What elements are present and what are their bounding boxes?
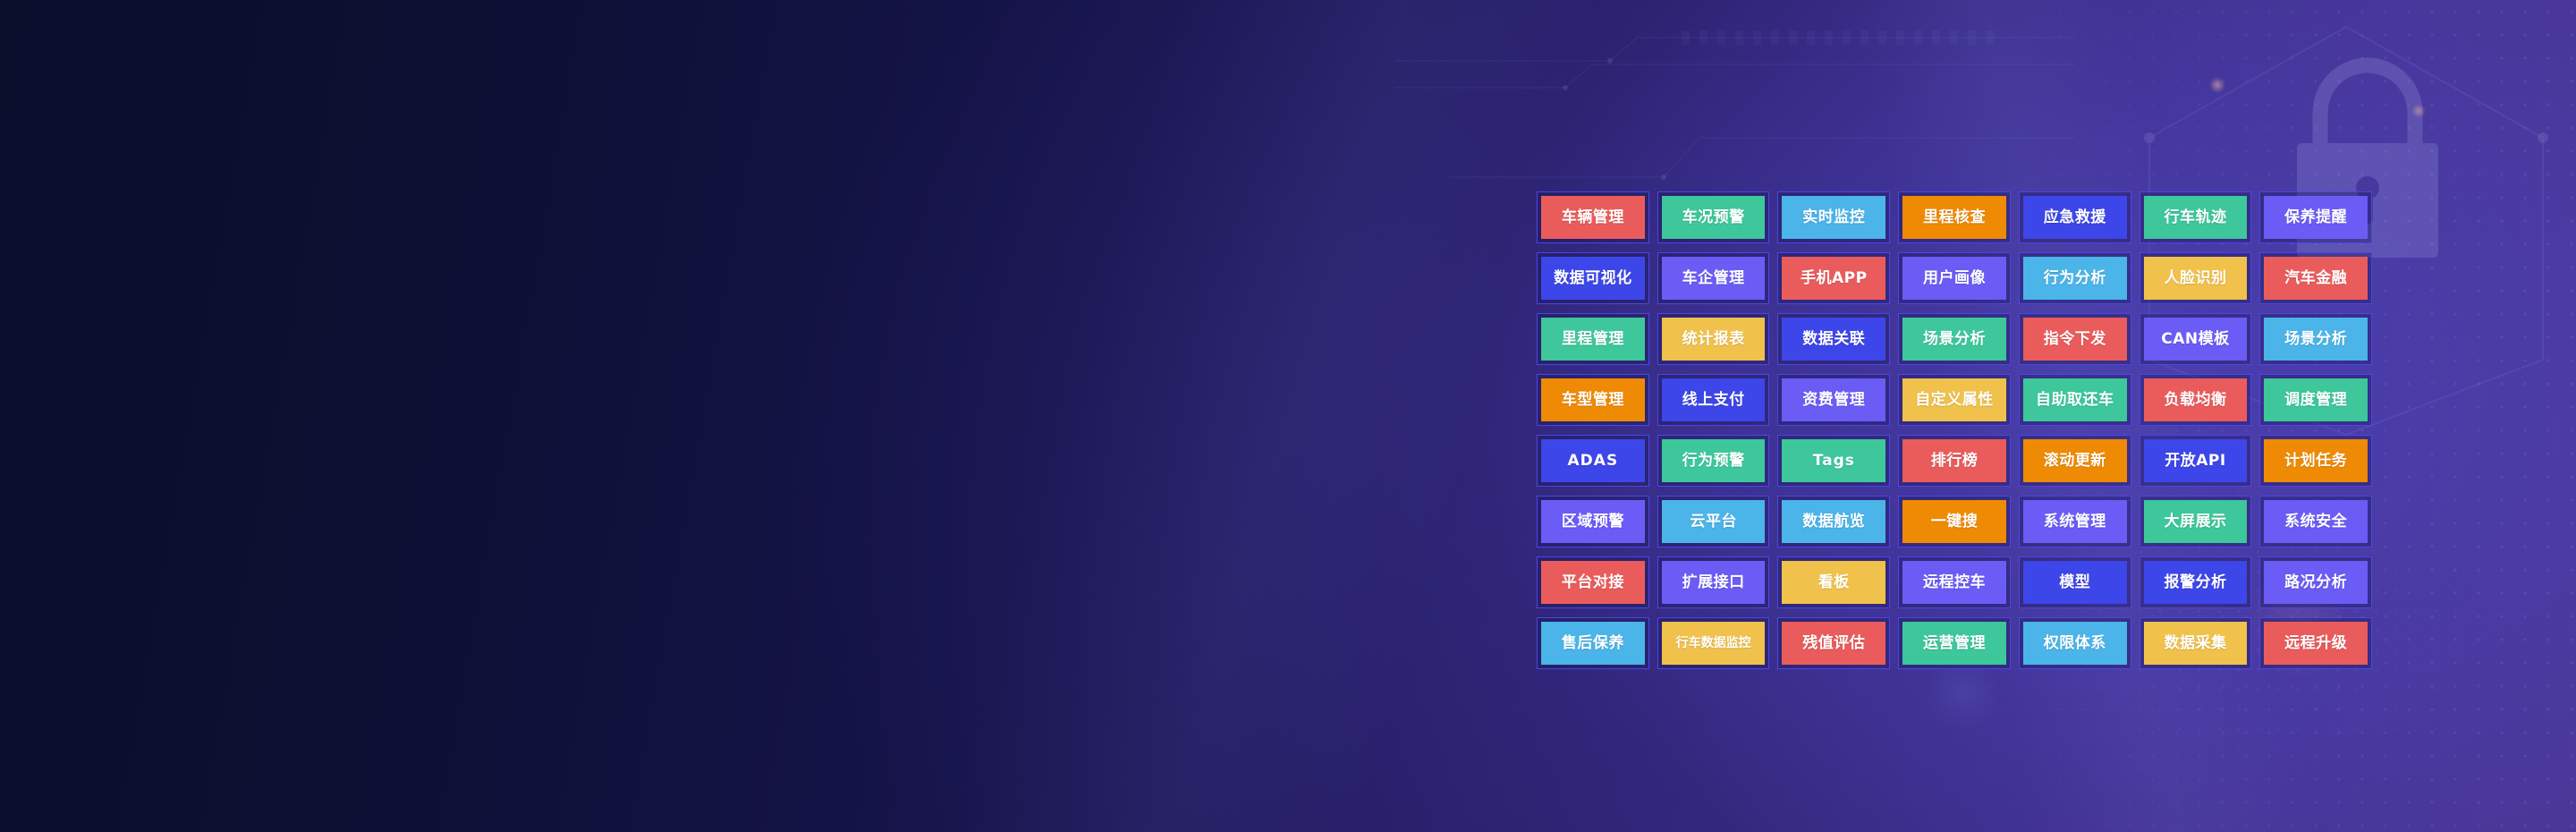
feature-tile[interactable]: 报警分析: [2144, 561, 2248, 604]
feature-tile-frame[interactable]: 负载均衡: [2140, 374, 2252, 426]
feature-tile-frame[interactable]: 行车轨迹: [2140, 191, 2252, 243]
feature-tile[interactable]: 区域预警: [1541, 500, 1645, 543]
feature-tile[interactable]: 场景分析: [1902, 318, 2006, 361]
feature-tile[interactable]: Tags: [1782, 439, 1885, 482]
feature-tile[interactable]: 应急救援: [2023, 196, 2127, 239]
tile-row: ADAS行为预警Tags排行榜滚动更新开放API计划任务: [1537, 435, 2372, 487]
feature-tile-frame[interactable]: 系统安全: [2259, 496, 2372, 548]
tile-row: 里程管理统计报表数据关联场景分析指令下发CAN模板场景分析: [1537, 313, 2372, 365]
tile-row: 平台对接扩展接口看板远程控车模型报警分析路况分析: [1537, 556, 2372, 608]
feature-tile[interactable]: 售后保养: [1541, 622, 1645, 665]
tile-row: 车型管理线上支付资费管理自定义属性自助取还车负载均衡调度管理: [1537, 374, 2372, 426]
feature-tile[interactable]: 滚动更新: [2023, 439, 2127, 482]
feature-tile[interactable]: 资费管理: [1782, 378, 1885, 421]
feature-tile-frame[interactable]: Tags: [1777, 435, 1890, 487]
feature-tile[interactable]: 汽车金融: [2264, 257, 2368, 300]
feature-tile-frame[interactable]: 统计报表: [1657, 313, 1770, 365]
feature-tile-frame[interactable]: 系统管理: [2019, 496, 2131, 548]
feature-tile-frame[interactable]: 线上支付: [1657, 374, 1770, 426]
feature-tile-frame[interactable]: 自定义属性: [1898, 374, 2011, 426]
feature-tile-frame[interactable]: 远程升级: [2259, 617, 2372, 669]
feature-tile-frame[interactable]: 区域预警: [1537, 496, 1649, 548]
light-sheen-decor: [878, 0, 1644, 832]
feature-tile-frame[interactable]: 数据关联: [1777, 313, 1890, 365]
feature-tile-frame[interactable]: 开放API: [2140, 435, 2252, 487]
feature-tile[interactable]: 大屏展示: [2144, 500, 2248, 543]
feature-tile-frame[interactable]: 模型: [2019, 556, 2131, 608]
tile-row: 售后保养行车数据监控残值评估运营管理权限体系数据采集远程升级: [1537, 617, 2372, 669]
feature-tile-frame[interactable]: 里程核查: [1898, 191, 2011, 243]
feature-tile-grid: 车辆管理车况预警实时监控里程核查应急救援行车轨迹保养提醒数据可视化车企管理手机A…: [1537, 191, 2372, 669]
feature-tile[interactable]: 行车数据监控: [1662, 622, 1766, 665]
feature-tile[interactable]: 系统安全: [2264, 500, 2368, 543]
feature-tile[interactable]: 人脸识别: [2144, 257, 2248, 300]
feature-tile-frame[interactable]: 数据航览: [1777, 496, 1890, 548]
feature-tile-frame[interactable]: 看板: [1777, 556, 1890, 608]
feature-tile[interactable]: 排行榜: [1902, 439, 2006, 482]
feature-tile-frame[interactable]: 数据采集: [2140, 617, 2252, 669]
feature-tile[interactable]: 看板: [1782, 561, 1885, 604]
glow-dot-decor-2: [2411, 104, 2426, 118]
feature-tile[interactable]: 远程升级: [2264, 622, 2368, 665]
feature-tile-frame[interactable]: 汽车金融: [2259, 252, 2372, 304]
feature-tile[interactable]: 自助取还车: [2023, 378, 2127, 421]
feature-tile[interactable]: 场景分析: [2264, 318, 2368, 361]
feature-tile[interactable]: ADAS: [1541, 439, 1645, 482]
feature-tile-frame[interactable]: 应急救援: [2019, 191, 2131, 243]
feature-tile-frame[interactable]: 里程管理: [1537, 313, 1649, 365]
feature-tile-frame[interactable]: 人脸识别: [2140, 252, 2252, 304]
feature-tile-frame[interactable]: 场景分析: [2259, 313, 2372, 365]
feature-tile-frame[interactable]: 权限体系: [2019, 617, 2131, 669]
feature-tile[interactable]: 路况分析: [2264, 561, 2368, 604]
feature-tile-frame[interactable]: 行为预警: [1657, 435, 1770, 487]
page-root: 车辆管理车况预警实时监控里程核查应急救援行车轨迹保养提醒数据可视化车企管理手机A…: [0, 0, 2576, 832]
feature-tile-frame[interactable]: CAN模板: [2140, 313, 2252, 365]
feature-tile-frame[interactable]: 实时监控: [1777, 191, 1890, 243]
feature-tile[interactable]: 调度管理: [2264, 378, 2368, 421]
feature-tile[interactable]: 负载均衡: [2144, 378, 2248, 421]
feature-tile-frame[interactable]: 运营管理: [1898, 617, 2011, 669]
tile-row: 车辆管理车况预警实时监控里程核查应急救援行车轨迹保养提醒: [1537, 191, 2372, 243]
feature-tile[interactable]: 一键搜: [1902, 500, 2006, 543]
feature-tile-frame[interactable]: 行车数据监控: [1657, 617, 1770, 669]
feature-tile-frame[interactable]: 车况预警: [1657, 191, 1770, 243]
feature-tile[interactable]: 数据关联: [1782, 318, 1885, 361]
feature-tile-frame[interactable]: 用户画像: [1898, 252, 2011, 304]
feature-tile-frame[interactable]: 调度管理: [2259, 374, 2372, 426]
feature-tile[interactable]: 指令下发: [2023, 318, 2127, 361]
feature-tile[interactable]: 统计报表: [1662, 318, 1766, 361]
feature-tile[interactable]: 行为分析: [2023, 257, 2127, 300]
feature-tile[interactable]: 车型管理: [1541, 378, 1645, 421]
feature-tile-frame[interactable]: 计划任务: [2259, 435, 2372, 487]
feature-tile[interactable]: 数据采集: [2144, 622, 2248, 665]
feature-tile-frame[interactable]: 保养提醒: [2259, 191, 2372, 243]
feature-tile-frame[interactable]: 扩展接口: [1657, 556, 1770, 608]
feature-tile[interactable]: 权限体系: [2023, 622, 2127, 665]
feature-tile[interactable]: 云平台: [1662, 500, 1766, 543]
feature-tile-frame[interactable]: 行为分析: [2019, 252, 2131, 304]
feature-tile-frame[interactable]: 残值评估: [1777, 617, 1890, 669]
feature-tile-frame[interactable]: 手机APP: [1777, 252, 1890, 304]
feature-tile[interactable]: CAN模板: [2144, 318, 2248, 361]
feature-tile[interactable]: 里程管理: [1541, 318, 1645, 361]
feature-tile[interactable]: 计划任务: [2264, 439, 2368, 482]
feature-tile[interactable]: 车企管理: [1662, 257, 1766, 300]
feature-tile[interactable]: 车辆管理: [1541, 196, 1645, 239]
feature-tile[interactable]: 用户画像: [1902, 257, 2006, 300]
feature-tile[interactable]: 数据可视化: [1541, 257, 1645, 300]
circuit-lines-icon: [1395, 25, 2075, 195]
feature-tile-frame[interactable]: 报警分析: [2140, 556, 2252, 608]
feature-tile[interactable]: 数据航览: [1782, 500, 1885, 543]
feature-tile[interactable]: 保养提醒: [2264, 196, 2368, 239]
feature-tile[interactable]: 系统管理: [2023, 500, 2127, 543]
feature-tile[interactable]: 行为预警: [1662, 439, 1766, 482]
glow-dot-decor-1: [2209, 77, 2225, 93]
feature-tile-frame[interactable]: 路况分析: [2259, 556, 2372, 608]
feature-tile[interactable]: 手机APP: [1782, 257, 1885, 300]
feature-tile-frame[interactable]: 指令下发: [2019, 313, 2131, 365]
feature-tile-frame[interactable]: 排行榜: [1898, 435, 2011, 487]
feature-tile-frame[interactable]: 大屏展示: [2140, 496, 2252, 548]
feature-tile-frame[interactable]: 一键搜: [1898, 496, 2011, 548]
feature-tile[interactable]: 里程核查: [1902, 196, 2006, 239]
feature-tile[interactable]: 开放API: [2144, 439, 2248, 482]
feature-tile-frame[interactable]: 滚动更新: [2019, 435, 2131, 487]
feature-tile-frame[interactable]: 车企管理: [1657, 252, 1770, 304]
feature-tile-frame[interactable]: 数据可视化: [1537, 252, 1649, 304]
feature-tile[interactable]: 扩展接口: [1662, 561, 1766, 604]
feature-tile-frame[interactable]: 自助取还车: [2019, 374, 2131, 426]
feature-tile-frame[interactable]: 场景分析: [1898, 313, 2011, 365]
feature-tile-frame[interactable]: 云平台: [1657, 496, 1770, 548]
feature-tile[interactable]: 远程控车: [1902, 561, 2006, 604]
tile-row: 区域预警云平台数据航览一键搜系统管理大屏展示系统安全: [1537, 496, 2372, 548]
feature-tile-frame[interactable]: 车型管理: [1537, 374, 1649, 426]
feature-tile[interactable]: 自定义属性: [1902, 378, 2006, 421]
feature-tile[interactable]: 线上支付: [1662, 378, 1766, 421]
feature-tile-frame[interactable]: 平台对接: [1537, 556, 1649, 608]
feature-tile[interactable]: 实时监控: [1782, 196, 1885, 239]
feature-tile-frame[interactable]: 售后保养: [1537, 617, 1649, 669]
feature-tile[interactable]: 行车轨迹: [2144, 196, 2248, 239]
feature-tile[interactable]: 模型: [2023, 561, 2127, 604]
feature-tile[interactable]: 运营管理: [1902, 622, 2006, 665]
feature-tile[interactable]: 残值评估: [1782, 622, 1885, 665]
feature-tile[interactable]: 车况预警: [1662, 196, 1766, 239]
feature-tile-frame[interactable]: ADAS: [1537, 435, 1649, 487]
feature-tile-frame[interactable]: 资费管理: [1777, 374, 1890, 426]
feature-tile-frame[interactable]: 车辆管理: [1537, 191, 1649, 243]
feature-tile-frame[interactable]: 远程控车: [1898, 556, 2011, 608]
tile-row: 数据可视化车企管理手机APP用户画像行为分析人脸识别汽车金融: [1537, 252, 2372, 304]
feature-tile[interactable]: 平台对接: [1541, 561, 1645, 604]
